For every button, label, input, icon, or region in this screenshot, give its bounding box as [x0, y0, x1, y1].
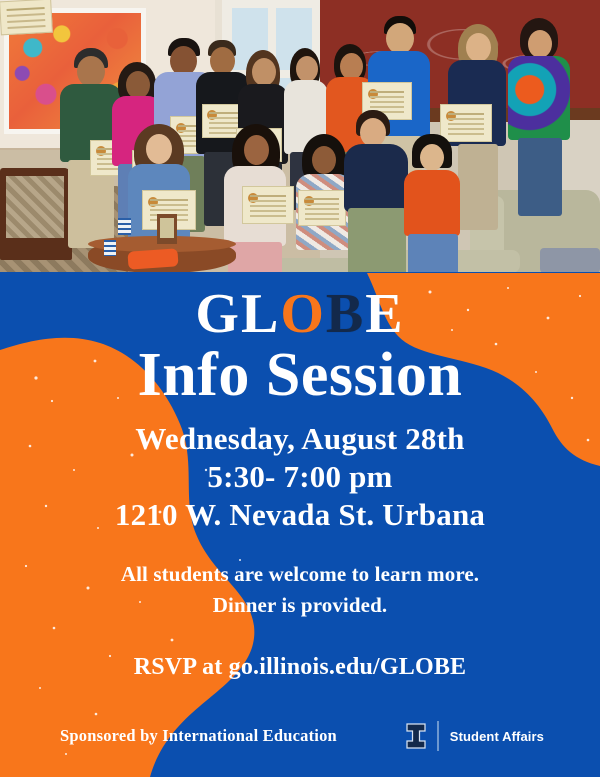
unitmark-divider — [437, 721, 439, 751]
unit-label-student-affairs: Student Affairs — [450, 729, 544, 744]
event-date: Wednesday, August 28th — [0, 420, 600, 458]
title-globe: GLOBE — [0, 286, 600, 342]
event-location: 1210 W. Nevada St. Urbana — [0, 496, 600, 534]
title-globe-part-e: E — [365, 283, 404, 345]
title-info-session: Info Session — [0, 344, 600, 406]
sponsor-text: Sponsored by International Education — [60, 726, 337, 746]
welcome-line-2: Dinner is provided. — [0, 590, 600, 620]
welcome-message: All students are welcome to learn more. … — [0, 559, 600, 620]
event-details: Wednesday, August 28th 5:30- 7:00 pm 121… — [0, 420, 600, 533]
event-time: 5:30- 7:00 pm — [0, 458, 600, 496]
welcome-line-1: All students are welcome to learn more. — [0, 559, 600, 589]
event-flyer-poster: GLOBE Info Session Wednesday, August 28t… — [0, 0, 600, 777]
flyer-footer: Sponsored by International Education Stu… — [0, 721, 600, 751]
rsvp-text[interactable]: RSVP at go.illinois.edu/GLOBE — [0, 654, 600, 681]
title-globe-part-o: O — [280, 283, 326, 345]
illinois-unitmark: Student Affairs — [406, 721, 544, 751]
flyer-content: GLOBE Info Session Wednesday, August 28t… — [0, 272, 600, 777]
title-globe-part-gl: GL — [195, 283, 280, 345]
title-globe-part-b: B — [326, 283, 365, 345]
illinois-block-i-icon — [406, 723, 426, 749]
